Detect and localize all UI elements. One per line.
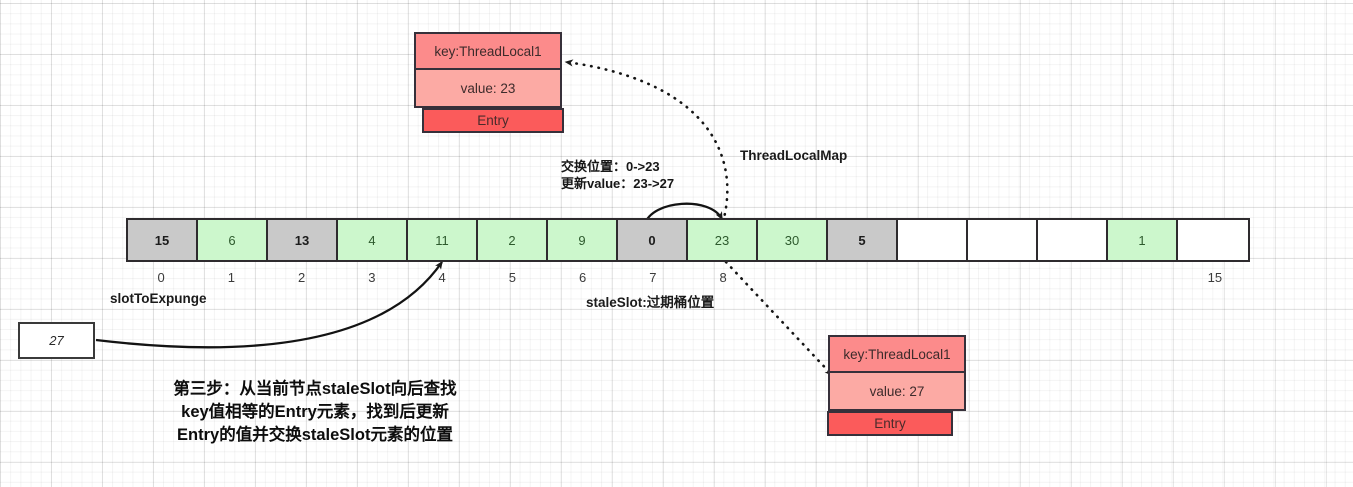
array-cell-5: 2 xyxy=(478,220,548,260)
swap-note-line: 交换位置：0->23 xyxy=(561,158,676,175)
array-index-15: 15 xyxy=(1208,270,1222,285)
array-index-0: 0 xyxy=(158,270,165,285)
array-cell-10: 5 xyxy=(828,220,898,260)
array-index-2: 2 xyxy=(298,270,305,285)
array-cell-3: 4 xyxy=(338,220,408,260)
array-cell-1: 6 xyxy=(198,220,268,260)
array-cell-12 xyxy=(968,220,1038,260)
array-cell-9: 30 xyxy=(758,220,828,260)
entry-card-bottom: key:ThreadLocal1 value: 27 Entry xyxy=(828,335,966,436)
entry-bottom-footer: Entry xyxy=(827,411,953,436)
array-index-5: 5 xyxy=(509,270,516,285)
dotted-link-top xyxy=(566,62,727,222)
step-caption: 第三步：从当前节点staleSlot向后查找key值相等的Entry元素，找到后… xyxy=(105,378,525,447)
array-index-3: 3 xyxy=(368,270,375,285)
array-index-1: 1 xyxy=(228,270,235,285)
array-cell-13 xyxy=(1038,220,1108,260)
entry-bottom-value: value: 27 xyxy=(828,373,966,411)
array-index-4: 4 xyxy=(439,270,446,285)
array-cell-4: 11 xyxy=(408,220,478,260)
entry-top-footer: Entry xyxy=(422,108,564,133)
caption-line: 第三步：从当前节点staleSlot向后查找 xyxy=(105,378,525,401)
caption-line: key值相等的Entry元素，找到后更新 xyxy=(105,401,525,424)
caption-line: Entry的值并交换staleSlot元素的位置 xyxy=(105,424,525,447)
array-cell-8: 23 xyxy=(688,220,758,260)
swap-note-line: 更新value：23->27 xyxy=(561,175,676,192)
stale-slot-label: staleSlot:过期桶位置 xyxy=(586,291,714,311)
array-index-labels: 01234567815 xyxy=(126,270,1250,290)
array-cell-14: 1 xyxy=(1108,220,1178,260)
array-cell-6: 9 xyxy=(548,220,618,260)
array-index-8: 8 xyxy=(720,270,727,285)
array-cell-2: 13 xyxy=(268,220,338,260)
entry-top-value: value: 23 xyxy=(414,70,562,108)
entry-bottom-key: key:ThreadLocal1 xyxy=(828,335,966,373)
entry-top-key: key:ThreadLocal1 xyxy=(414,32,562,70)
entry-card-top: key:ThreadLocal1 value: 23 Entry xyxy=(414,32,562,133)
new-value-box: 27 xyxy=(18,322,95,359)
array-cell-15 xyxy=(1178,220,1248,260)
slot-to-expunge-label: slotToExpunge xyxy=(110,291,207,306)
array-cell-11 xyxy=(898,220,968,260)
array-cell-7: 0 xyxy=(618,220,688,260)
swap-note: 交换位置：0->23更新value：23->27 xyxy=(561,158,676,192)
array-cell-0: 15 xyxy=(128,220,198,260)
threadlocalmap-label: ThreadLocalMap xyxy=(740,148,847,163)
threadlocalmap-array: 15613411290233051 xyxy=(126,218,1250,262)
array-index-7: 7 xyxy=(649,270,656,285)
array-index-6: 6 xyxy=(579,270,586,285)
